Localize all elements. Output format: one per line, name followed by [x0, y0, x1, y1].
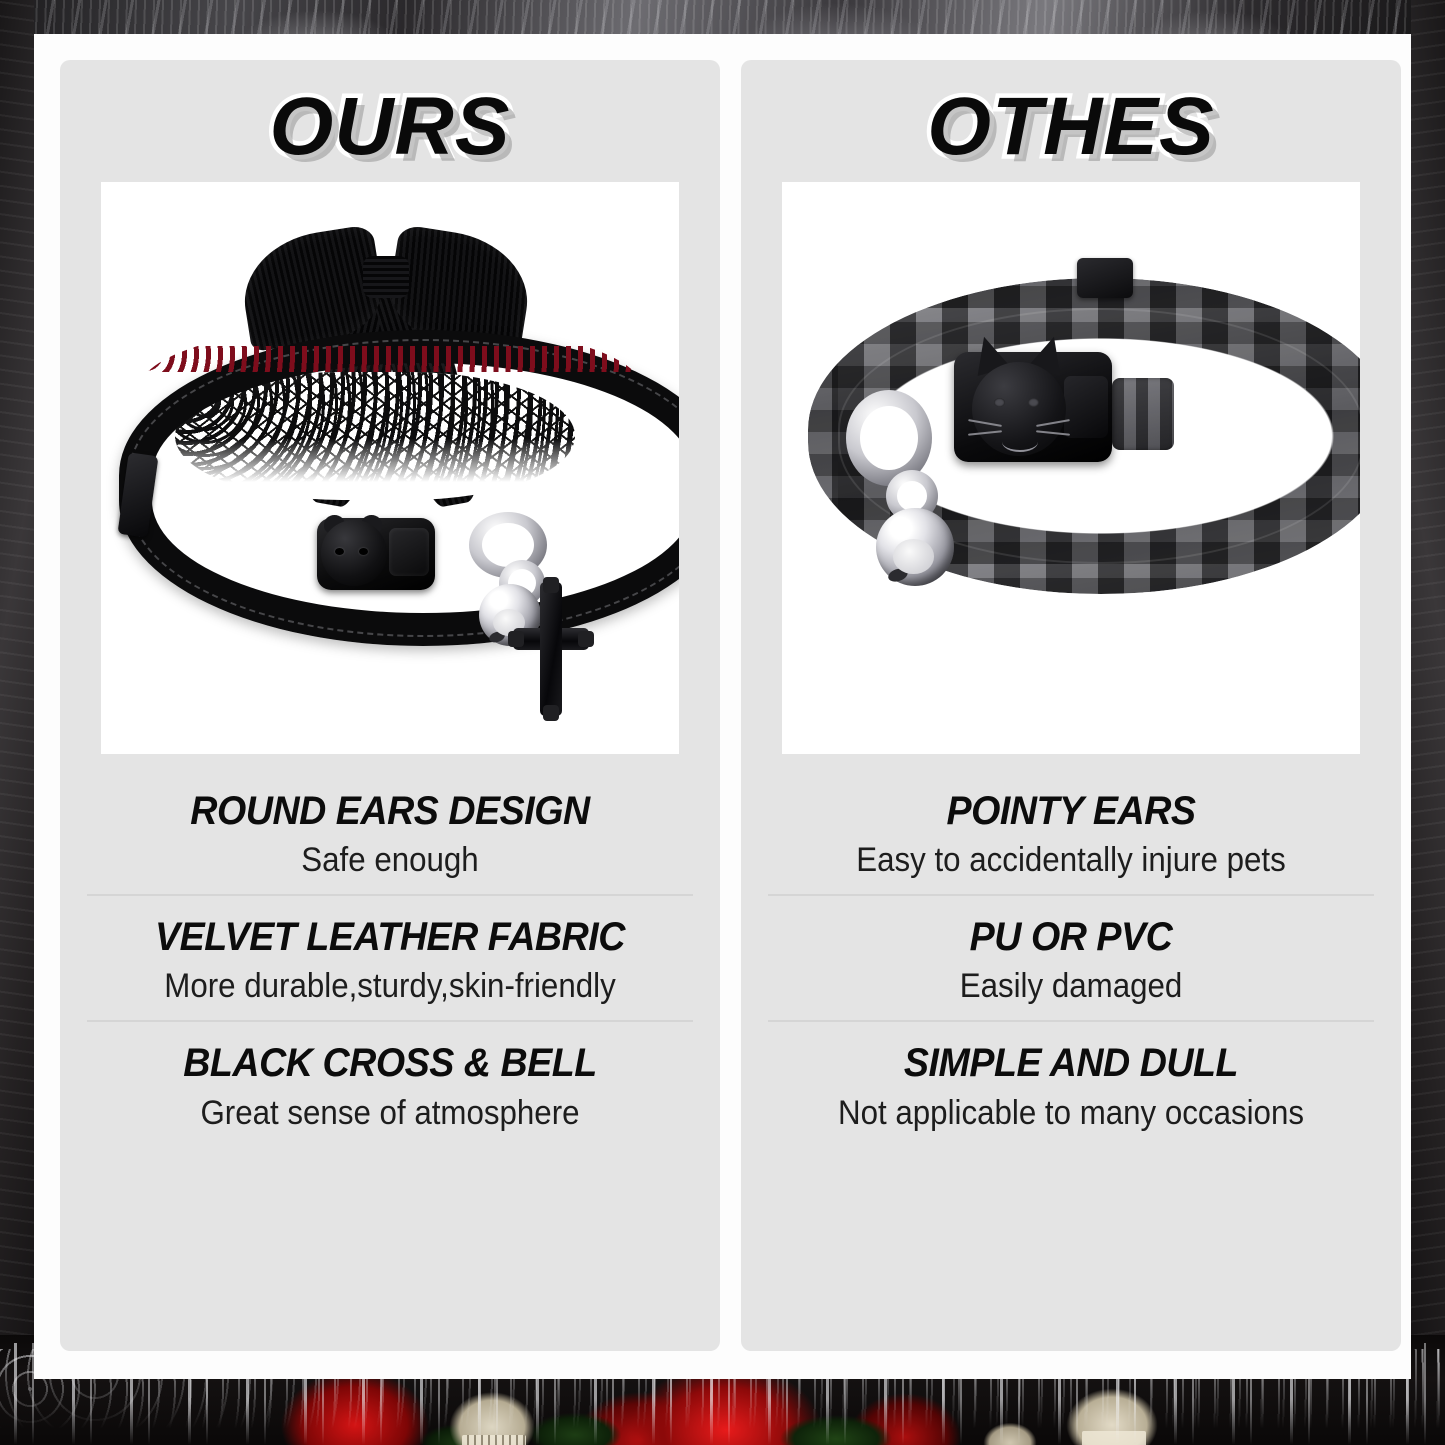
panel-title-others: OTHES — [927, 86, 1214, 168]
feature-subtext: Safe enough — [111, 841, 669, 880]
feature-subtext: Easy to accidentally injure pets — [792, 841, 1350, 880]
product-photo-others — [782, 182, 1360, 754]
comparison-panels: OURS — [34, 34, 1411, 1379]
feature-heading: POINTY EARS — [786, 790, 1356, 833]
burgundy-lace-trim-icon — [137, 330, 645, 456]
feature-heading: BLACK CROSS & BELL — [105, 1042, 675, 1085]
panel-others: OTHES — [741, 60, 1401, 1351]
feature-row: SIMPLE AND DULL Not applicable to many o… — [768, 1020, 1374, 1146]
round-ear-breakaway-buckle — [317, 518, 435, 590]
feature-subtext: Easily damaged — [792, 967, 1350, 1006]
feature-heading: PU OR PVC — [786, 916, 1356, 959]
feature-list-ours: ROUND EARS DESIGN Safe enough VELVET LEA… — [87, 770, 693, 1147]
gothic-velvet-collar-illustration — [101, 182, 679, 754]
panel-ours: OURS — [60, 60, 720, 1351]
feature-row: ROUND EARS DESIGN Safe enough — [87, 770, 693, 894]
feature-heading: ROUND EARS DESIGN — [105, 790, 675, 833]
feature-subtext: More durable,sturdy,skin-friendly — [111, 967, 669, 1006]
infographic-canvas: OURS — [0, 0, 1445, 1445]
product-photo-ours — [101, 182, 679, 754]
feature-row: POINTY EARS Easy to accidentally injure … — [768, 770, 1374, 894]
feature-heading: SIMPLE AND DULL — [786, 1042, 1356, 1085]
black-cross-charm-icon — [513, 582, 589, 716]
pointy-ear-breakaway-buckle — [954, 352, 1112, 462]
feature-row: PU OR PVC Easily damaged — [768, 894, 1374, 1020]
feature-row: VELVET LEATHER FABRIC More durable,sturd… — [87, 894, 693, 1020]
chrome-bell-icon — [876, 508, 954, 586]
panel-title-ours: OURS — [270, 86, 511, 168]
feature-subtext: Great sense of atmosphere — [111, 1094, 669, 1133]
gothic-edge-right — [1411, 0, 1445, 1445]
strap-slider — [1077, 258, 1133, 298]
feature-subtext: Not applicable to many occasions — [792, 1094, 1350, 1133]
strap-keeper — [1112, 378, 1174, 450]
grey-plaid-collar-illustration — [782, 182, 1360, 754]
feature-list-others: POINTY EARS Easy to accidentally injure … — [768, 770, 1374, 1147]
feature-row: BLACK CROSS & BELL Great sense of atmosp… — [87, 1020, 693, 1146]
feature-heading: VELVET LEATHER FABRIC — [105, 916, 675, 959]
content-sheet: OURS — [34, 34, 1411, 1379]
gothic-edge-left — [0, 0, 34, 1445]
